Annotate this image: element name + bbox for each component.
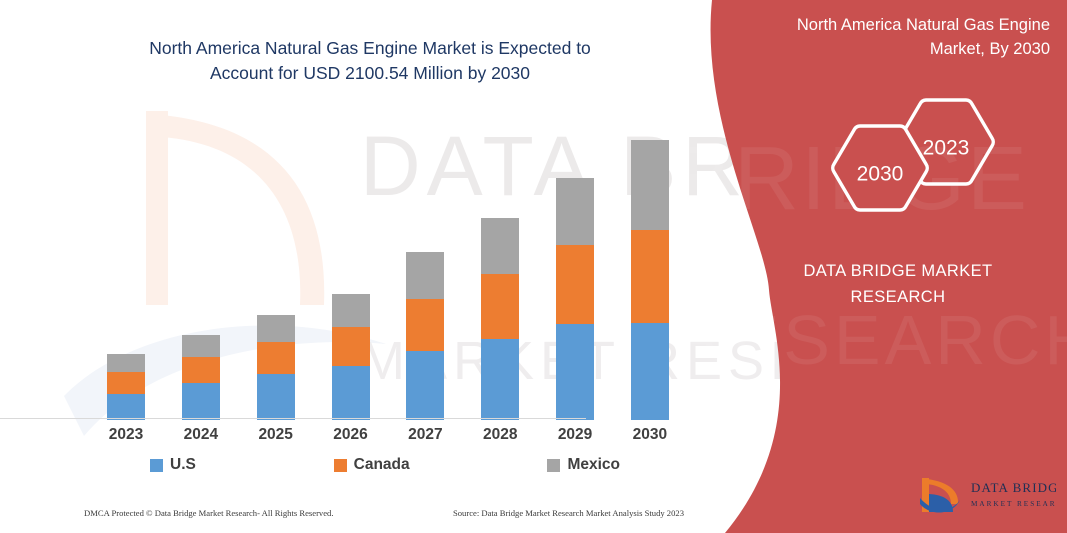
bar-segment-us-2025	[257, 374, 295, 420]
bar-stack-2029	[556, 178, 594, 421]
bar-stack-2027	[406, 252, 444, 420]
bar-segment-us-2024	[182, 383, 220, 420]
bar-column	[321, 140, 381, 420]
bar-column	[620, 140, 680, 420]
legend-item-us[interactable]: U.S	[150, 456, 196, 474]
panel-content: BRIDGE RESEARCH North America Natural Ga…	[690, 0, 1067, 533]
bar-segment-canada-2025	[257, 342, 295, 374]
x-axis-label-2029: 2029	[545, 426, 605, 444]
logo-mark-icon	[920, 478, 960, 513]
bar-segment-canada-2026	[332, 327, 370, 366]
x-axis-label-2026: 2026	[321, 426, 381, 444]
chart-title-line-2: Account for USD 2100.54 Million by 2030	[60, 61, 680, 86]
bar-segment-mexico-2030	[631, 140, 669, 230]
bar-segment-canada-2029	[556, 245, 594, 324]
bar-stack-2030	[631, 140, 669, 420]
x-axis-label-2028: 2028	[470, 426, 530, 444]
side-panel: BRIDGE RESEARCH North America Natural Ga…	[690, 0, 1067, 533]
legend-item-canada[interactable]: Canada	[334, 456, 410, 474]
bar-segment-mexico-2024	[182, 335, 220, 357]
data-bridge-logo: DATA BRIDGE MARKET RESEARCH	[916, 474, 1056, 518]
bar-segment-us-2023	[107, 394, 145, 420]
x-axis-label-2023: 2023	[96, 426, 156, 444]
x-axis-labels: 20232024202520262027202820292030	[96, 426, 680, 444]
bar-segment-canada-2027	[406, 299, 444, 351]
x-axis-label-2027: 2027	[395, 426, 455, 444]
footer-copyright: DMCA Protected © Data Bridge Market Rese…	[84, 508, 334, 518]
bar-stack-2026	[332, 294, 370, 420]
bar-segment-mexico-2023	[107, 354, 145, 372]
legend-label-canada: Canada	[354, 456, 410, 474]
bar-stack-2028	[481, 218, 519, 420]
x-axis-label-2024: 2024	[171, 426, 231, 444]
bar-segment-us-2028	[481, 339, 519, 420]
bar-column	[470, 140, 530, 420]
bar-segment-canada-2023	[107, 372, 145, 394]
panel-title-line-1: North America Natural Gas Engine	[750, 14, 1050, 38]
panel-watermark-secondary: RESEARCH	[690, 300, 1067, 380]
logo-secondary-label: MARKET RESEARCH	[971, 500, 1056, 508]
footer-source: Source: Data Bridge Market Research Mark…	[453, 508, 684, 518]
bar-segment-canada-2024	[182, 357, 220, 383]
panel-brand-line-2: RESEARCH	[748, 284, 1048, 310]
legend-item-mexico[interactable]: Mexico	[547, 456, 620, 474]
panel-title-line-2: Market, By 2030	[750, 38, 1050, 62]
stacked-bar-chart	[96, 140, 680, 420]
bar-segment-mexico-2028	[481, 218, 519, 274]
panel-brand-name: DATA BRIDGE MARKET RESEARCH	[748, 258, 1048, 311]
bar-stack-2025	[257, 315, 295, 420]
legend-swatch-mexico	[547, 459, 560, 472]
bar-stack-2024	[182, 335, 220, 420]
panel-brand-line-1: DATA BRIDGE MARKET	[748, 258, 1048, 284]
bar-segment-mexico-2027	[406, 252, 444, 299]
legend-label-us: U.S	[170, 456, 196, 474]
hexagon-2030-label: 2030	[857, 163, 904, 186]
bar-segment-canada-2028	[481, 274, 519, 339]
hexagon-2023-label: 2023	[923, 137, 970, 160]
bar-segment-mexico-2026	[332, 294, 370, 327]
bar-column	[545, 140, 605, 420]
legend-label-mexico: Mexico	[567, 456, 620, 474]
chart-legend: U.SCanadaMexico	[150, 456, 620, 474]
bar-segment-mexico-2025	[257, 315, 295, 342]
bar-segment-mexico-2029	[556, 178, 594, 246]
legend-swatch-us	[150, 459, 163, 472]
bar-column	[171, 140, 231, 420]
infographic-root: DATA BRIDGE MARKET RESEARCH North Americ…	[0, 0, 1067, 533]
x-axis-line	[0, 418, 586, 419]
logo-primary-label: DATA BRIDGE	[971, 480, 1056, 495]
bar-column	[395, 140, 455, 420]
bar-segment-us-2030	[631, 323, 669, 420]
bar-segment-us-2029	[556, 324, 594, 420]
x-axis-label-2030: 2030	[620, 426, 680, 444]
bar-segment-us-2026	[332, 366, 370, 420]
hexagon-year-badges: 2023 2030	[808, 90, 1028, 220]
bar-stack-2023	[107, 354, 145, 420]
bar-column	[96, 140, 156, 420]
x-axis-label-2025: 2025	[246, 426, 306, 444]
bar-column	[246, 140, 306, 420]
chart-plot-area	[96, 140, 680, 420]
chart-title: North America Natural Gas Engine Market …	[60, 36, 680, 87]
bar-segment-us-2027	[406, 351, 444, 420]
panel-title: North America Natural Gas Engine Market,…	[750, 14, 1050, 62]
chart-title-line-1: North America Natural Gas Engine Market …	[60, 36, 680, 61]
footer: DMCA Protected © Data Bridge Market Rese…	[84, 508, 684, 518]
bar-segment-canada-2030	[631, 230, 669, 324]
legend-swatch-canada	[334, 459, 347, 472]
